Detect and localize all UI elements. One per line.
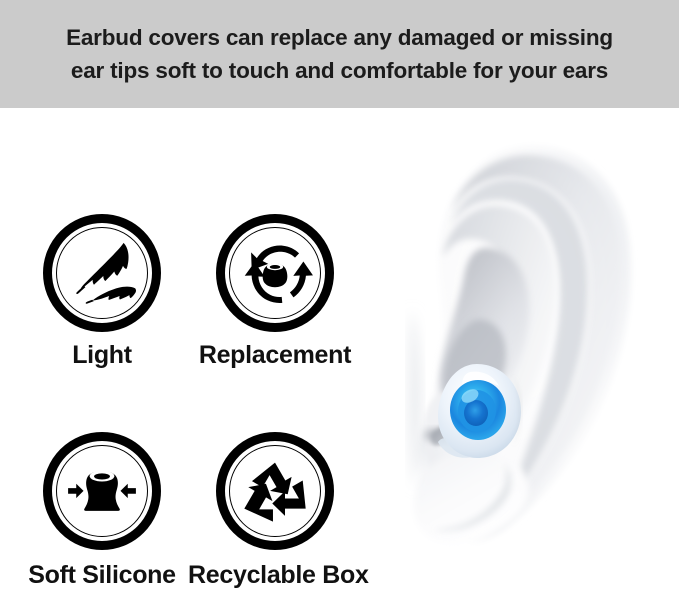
feature-badge-circle (216, 214, 334, 332)
feather-icon (52, 223, 152, 323)
feature-badge-circle (43, 214, 161, 332)
replacement-arrows-icon (225, 223, 325, 323)
ear-illustration (380, 108, 679, 611)
recycle-icon (225, 441, 325, 541)
product-infographic: Earbud covers can replace any damaged or… (0, 0, 679, 611)
headline-line-1: Earbud covers can replace any damaged or… (66, 21, 613, 54)
feature-label: Replacement (188, 341, 362, 370)
feature-grid: Light (0, 108, 380, 611)
headline-banner: Earbud covers can replace any damaged or… (0, 0, 679, 108)
feature-label: Light (15, 341, 189, 370)
ear-product-photo (380, 108, 679, 611)
feature-soft-silicone: Soft Silicone (15, 432, 189, 590)
feature-light: Light (15, 214, 189, 370)
feature-recyclable-box: Recyclable Box (188, 432, 362, 590)
feature-label: Recyclable Box (188, 561, 362, 590)
headline-line-2: ear tips soft to touch and comfortable f… (71, 54, 608, 87)
feature-replacement: Replacement (188, 214, 362, 370)
compress-eartip-icon (52, 441, 152, 541)
feature-badge-circle (216, 432, 334, 550)
feature-badge-circle (43, 432, 161, 550)
feature-label: Soft Silicone (15, 561, 189, 590)
